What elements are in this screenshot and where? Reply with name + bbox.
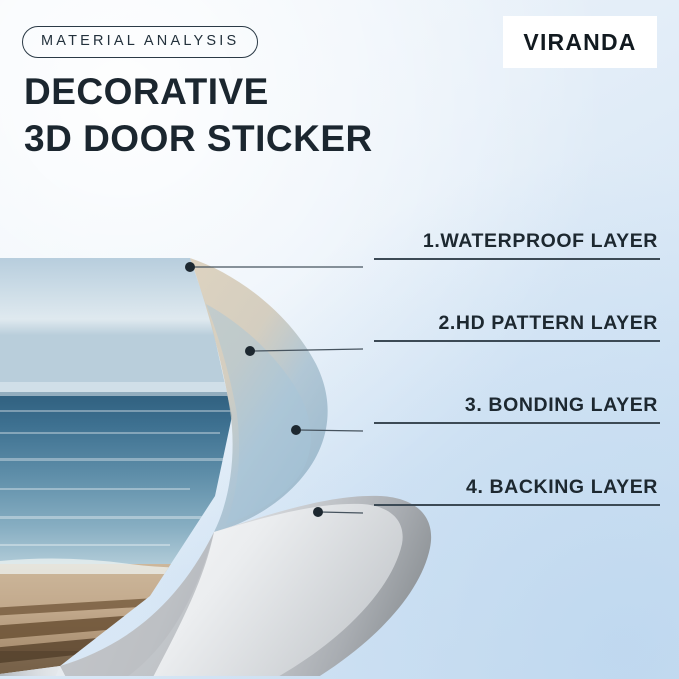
eyebrow-badge: MATERIAL ANALYSIS	[22, 26, 258, 58]
page-title-line2: 3D DOOR STICKER	[24, 115, 373, 162]
poster-canvas: MATERIAL ANALYSIS DECORATIVE 3D DOOR STI…	[0, 0, 679, 679]
callout-item-1: 1.WATERPROOF LAYER	[374, 230, 660, 260]
callout-rule-2	[374, 340, 660, 342]
product-illustration	[0, 196, 440, 676]
page-title-line1: DECORATIVE	[24, 71, 269, 112]
callout-item-3: 3. BONDING LAYER	[374, 394, 660, 424]
callout-label-2: 2.HD PATTERN LAYER	[374, 312, 660, 340]
callout-label-4: 4. BACKING LAYER	[374, 476, 660, 504]
brand-logo: VIRANDA	[503, 16, 657, 68]
callout-rule-3	[374, 422, 660, 424]
callout-label-1: 1.WATERPROOF LAYER	[374, 230, 660, 258]
callout-rule-1	[374, 258, 660, 260]
page-title: DECORATIVE 3D DOOR STICKER	[24, 68, 373, 163]
callout-item-4: 4. BACKING LAYER	[374, 476, 660, 506]
callout-label-3: 3. BONDING LAYER	[374, 394, 660, 422]
callout-rule-4	[374, 504, 660, 506]
brand-name: VIRANDA	[523, 29, 636, 56]
callout-item-2: 2.HD PATTERN LAYER	[374, 312, 660, 342]
